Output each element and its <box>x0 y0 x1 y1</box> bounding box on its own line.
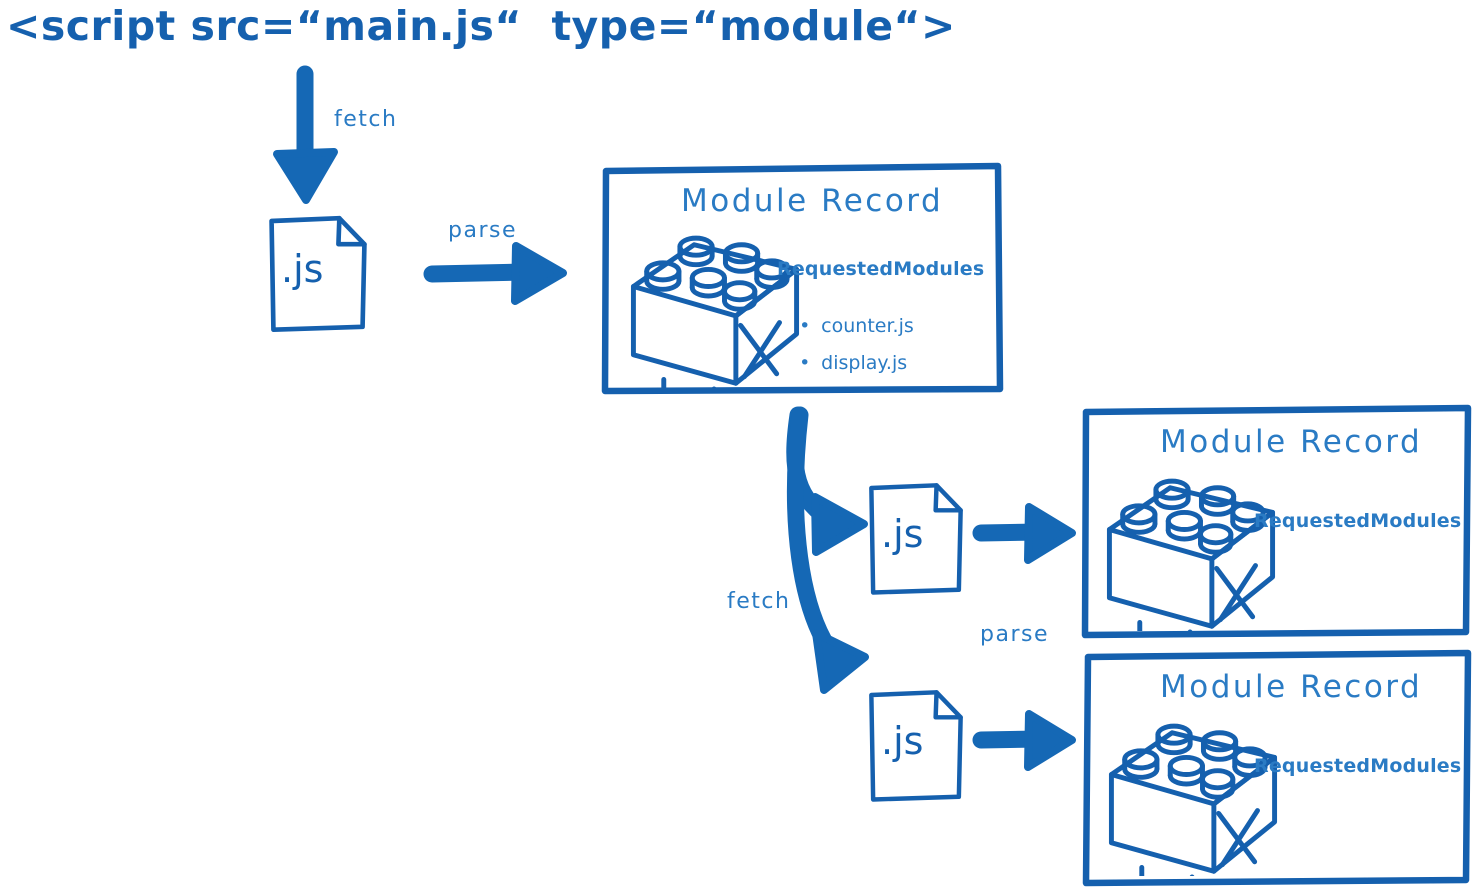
js-file-label: .js <box>881 719 923 763</box>
arrow-label-fetch: fetch <box>334 107 397 132</box>
diagram-canvas: <script src=“main.js“ type=“module“> <box>0 0 1479 893</box>
module-record-title: Module Record <box>1160 424 1422 460</box>
arrow-fetch-main-shape <box>277 74 334 200</box>
bullet-glyph: • <box>799 352 821 374</box>
arrow-parse-main-shape <box>432 246 563 301</box>
module-record-title: Module Record <box>681 183 943 219</box>
module-record-field-label: RequestedModules <box>777 258 984 280</box>
arrow-label-parse: parse <box>980 622 1049 647</box>
requested-module-item: •display.js <box>775 330 907 396</box>
module-record-field-label: RequestedModules <box>1254 755 1461 777</box>
arrow-parse-counter-shape <box>981 507 1072 560</box>
arrow-parse-display-shape <box>981 714 1072 767</box>
module-record-title: Module Record <box>1160 669 1422 705</box>
arrow-label-fetch: fetch <box>727 589 790 614</box>
arrow-fetch-branch-shape <box>795 415 865 690</box>
requested-module-name: display.js <box>821 352 907 374</box>
arrow-label-parse: parse <box>448 218 517 243</box>
module-record-field-label: RequestedModules <box>1254 510 1461 532</box>
js-file-label: .js <box>881 512 923 556</box>
js-file-label: .js <box>281 247 323 291</box>
